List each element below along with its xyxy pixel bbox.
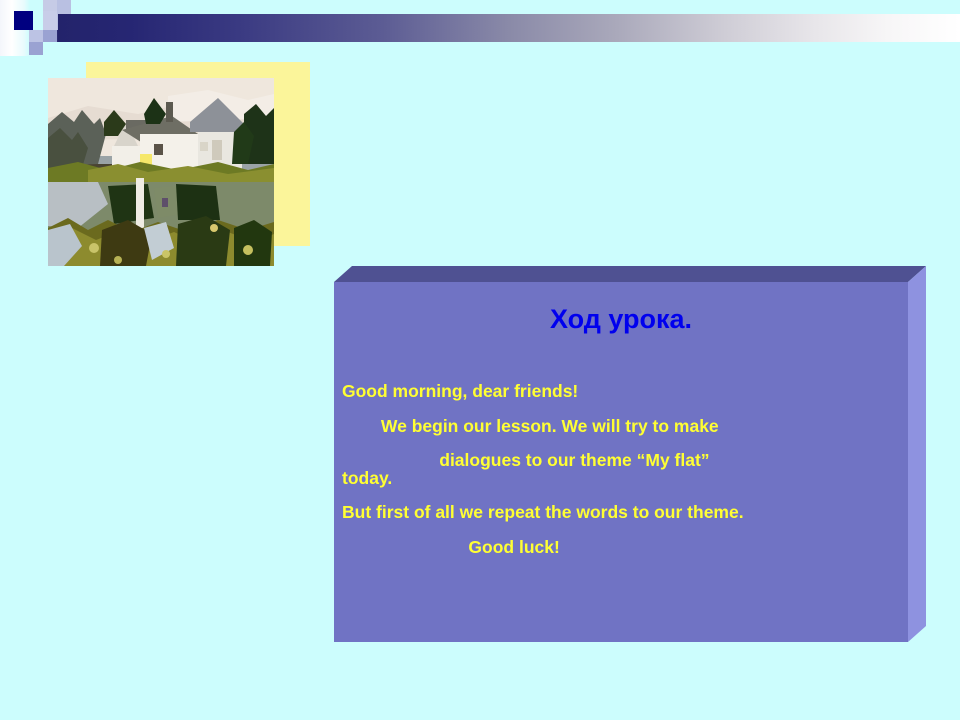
mosaic-square-navy bbox=[14, 11, 33, 30]
landscape-photo bbox=[48, 78, 274, 266]
content-box-face: Ход урока. Good morning, dear friends! W… bbox=[334, 282, 908, 642]
box-body: Good morning, dear friends! We begin our… bbox=[334, 335, 908, 556]
body-line-2: We begin our lesson. We will try to make bbox=[342, 418, 896, 436]
content-box: Ход урока. Good morning, dear friends! W… bbox=[334, 266, 926, 642]
mosaic-square-lavender-3 bbox=[43, 11, 57, 30]
body-line-1: Good morning, dear friends! bbox=[342, 383, 896, 401]
mosaic-square-lavender-4 bbox=[29, 30, 43, 42]
mosaic-square-lavender-7 bbox=[29, 42, 43, 55]
mosaic-square-lavender-5 bbox=[43, 30, 57, 42]
mosaic-square-lavender-1 bbox=[43, 0, 57, 11]
body-line-4: But first of all we repeat the words to … bbox=[342, 504, 896, 522]
box-title: Ход урока. bbox=[334, 282, 908, 335]
body-line-3: dialogues to our theme “My flat” today. bbox=[342, 452, 896, 487]
body-line-5: Good luck! bbox=[342, 539, 896, 557]
top-gradient-bar bbox=[58, 14, 960, 42]
